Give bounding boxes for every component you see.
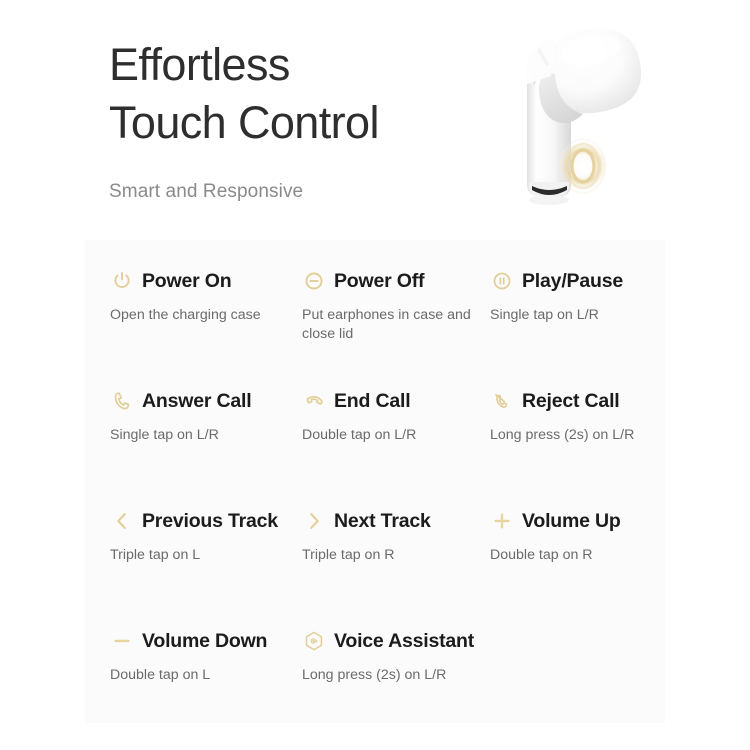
feature-title: Reject Call	[522, 390, 620, 413]
next-track-icon	[302, 509, 326, 533]
feature-item-volume-down[interactable]: Volume Down Double tap on L	[110, 622, 302, 742]
feature-title: Next Track	[334, 510, 431, 533]
feature-title: Power On	[142, 270, 231, 293]
product-feature-page: Effortless Touch Control Smart and Respo…	[0, 0, 750, 750]
feature-title: Previous Track	[142, 510, 278, 533]
page-title-line-2: Touch Control	[109, 94, 489, 152]
hero-section: Effortless Touch Control Smart and Respo…	[0, 0, 750, 240]
feature-item-play-pause[interactable]: Play/Pause Single tap on L/R	[490, 262, 655, 382]
touch-control-feature-panel: Power On Open the charging case Power Of…	[85, 240, 665, 723]
feature-item-end-call[interactable]: End Call Double tap on L/R	[302, 382, 490, 502]
feature-description: Single tap on L/R	[110, 426, 270, 445]
feature-description: Triple tap on R	[302, 546, 462, 565]
feature-description: Double tap on L	[110, 666, 270, 685]
feature-title: Answer Call	[142, 390, 251, 413]
previous-track-icon	[110, 509, 134, 533]
voice-assistant-icon	[302, 629, 326, 653]
feature-description: Put earphones in case and close lid	[302, 306, 477, 344]
feature-title: Voice Assistant	[334, 630, 474, 653]
feature-description: Double tap on L/R	[302, 426, 462, 445]
feature-title: End Call	[334, 390, 410, 413]
feature-description: Double tap on R	[490, 546, 650, 565]
feature-item-voice-assistant[interactable]: Voice Assistant Long press (2s) on L/R	[302, 622, 490, 742]
feature-grid: Power On Open the charging case Power Of…	[110, 262, 655, 742]
page-title-line-1: Effortless	[109, 36, 489, 94]
feature-description: Single tap on L/R	[490, 306, 650, 325]
feature-item-next-track[interactable]: Next Track Triple tap on R	[302, 502, 490, 622]
feature-item-reject-call[interactable]: Reject Call Long press (2s) on L/R	[490, 382, 655, 502]
volume-up-icon	[490, 509, 514, 533]
feature-title: Play/Pause	[522, 270, 623, 293]
feature-title: Power Off	[334, 270, 424, 293]
reject-call-icon	[490, 389, 514, 413]
feature-description: Open the charging case	[110, 306, 270, 325]
feature-description: Triple tap on L	[110, 546, 270, 565]
play-pause-icon	[490, 269, 514, 293]
feature-item-previous-track[interactable]: Previous Track Triple tap on L	[110, 502, 302, 622]
feature-description: Long press (2s) on L/R	[302, 666, 477, 685]
feature-title: Volume Up	[522, 510, 621, 533]
feature-title: Volume Down	[142, 630, 267, 653]
feature-item-power-off[interactable]: Power Off Put earphones in case and clos…	[302, 262, 490, 382]
power-on-icon	[110, 269, 134, 293]
feature-item-volume-up[interactable]: Volume Up Double tap on R	[490, 502, 655, 622]
page-subtitle: Smart and Responsive	[109, 152, 489, 205]
feature-description: Long press (2s) on L/R	[490, 426, 655, 445]
power-off-icon	[302, 269, 326, 293]
feature-item-power-on[interactable]: Power On Open the charging case	[110, 262, 302, 382]
answer-call-icon	[110, 389, 134, 413]
feature-grid-empty-slot	[490, 622, 655, 742]
earbud-product-image	[487, 14, 677, 224]
end-call-icon	[302, 389, 326, 413]
volume-down-icon	[110, 629, 134, 653]
hero-text-block: Effortless Touch Control Smart and Respo…	[109, 36, 489, 205]
feature-item-answer-call[interactable]: Answer Call Single tap on L/R	[110, 382, 302, 502]
